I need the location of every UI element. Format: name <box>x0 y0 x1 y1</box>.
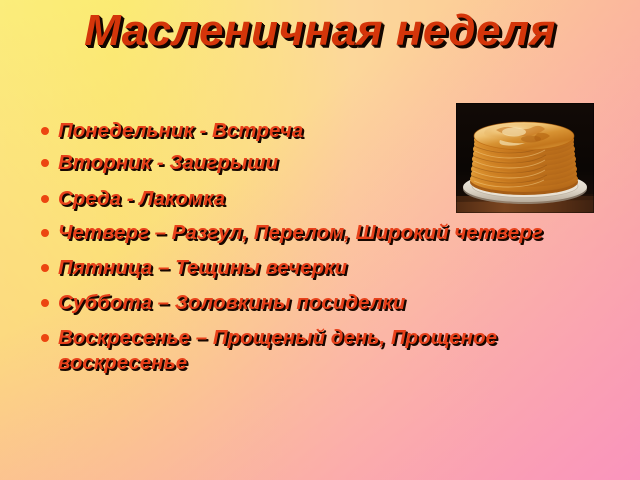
bullet-dot-icon <box>41 229 49 237</box>
page-title: Масленичная неделя <box>18 6 622 56</box>
list-item-label: Вторник - Заигрыши <box>58 150 448 175</box>
weekday-bullet-list: Понедельник - Встреча Вторник - Заигрыши… <box>28 118 448 381</box>
bullet-dot-icon <box>41 159 49 167</box>
pancakes-illustration <box>456 103 594 213</box>
stack-of-pancakes-photo <box>456 103 594 213</box>
list-item-label: Воскресенье – Прощеный день, Прощеное во… <box>58 325 528 375</box>
list-item: Среда - Лакомка <box>28 186 448 211</box>
list-item-label: Пятница – Тещины вечерки <box>58 255 538 280</box>
bullet-dot-icon <box>41 195 49 203</box>
bullet-dot-icon <box>41 264 49 272</box>
list-item: Воскресенье – Прощеный день, Прощеное во… <box>28 325 528 375</box>
list-item-label: Понедельник - Встреча <box>58 118 448 143</box>
list-item: Вторник - Заигрыши <box>28 150 448 175</box>
bullet-dot-icon <box>41 127 49 135</box>
slide: Масленичная неделя Понедельник - Встреча… <box>0 0 640 480</box>
list-item: Пятница – Тещины вечерки <box>28 255 538 280</box>
bullet-dot-icon <box>41 334 49 342</box>
list-item: Понедельник - Встреча <box>28 118 448 143</box>
bullet-dot-icon <box>41 299 49 307</box>
list-item-label: Среда - Лакомка <box>58 186 448 211</box>
list-item-label: Суббота – Золовкины посиделки <box>58 290 558 315</box>
list-item: Суббота – Золовкины посиделки <box>28 290 558 315</box>
list-item-label: Четверг – Разгул, Перелом, Широкий четве… <box>58 220 558 245</box>
list-item: Четверг – Разгул, Перелом, Широкий четве… <box>28 220 558 245</box>
